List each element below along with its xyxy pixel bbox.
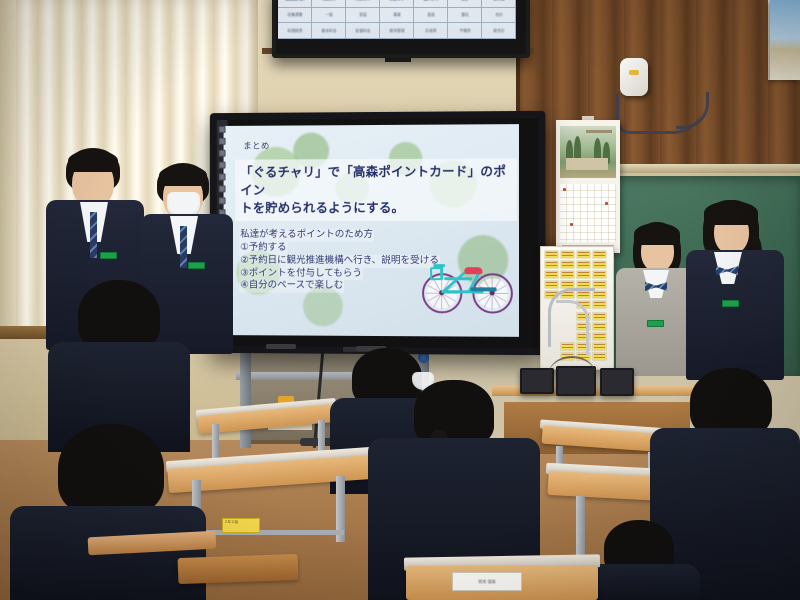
- calendar-photo: [560, 126, 616, 178]
- table-row: 設備費内訳 可燃ごみ 陶土ごみ 資源ごみ 粗大ごみ 合計 前年比: [278, 0, 516, 8]
- slide-headline-line-2: トを貯められるようにする。: [240, 198, 512, 216]
- laptop-3[interactable]: [600, 368, 634, 396]
- slide-bullet-3: ③ポイントを付与してもらう: [239, 267, 363, 280]
- name-badge: [100, 252, 117, 259]
- curtain-edge: [0, 0, 16, 345]
- desk-crossbar: [198, 530, 344, 535]
- desk-top-left-front: [178, 554, 299, 584]
- table-cell: 従量料金: [346, 23, 380, 38]
- chalk-tray: [596, 164, 800, 173]
- name-badge: [722, 300, 739, 307]
- table-cell: 予備費: [448, 23, 482, 38]
- desk-namecard: 教育 優美: [452, 572, 522, 591]
- table-cell: 一般: [312, 8, 346, 23]
- table-cell: 直接: [414, 8, 448, 23]
- table-cell: 前年比: [482, 0, 516, 7]
- calendar-photo-building: [566, 158, 608, 170]
- table-cell: 委託: [448, 8, 482, 23]
- table-cell: 粗大ごみ: [414, 0, 448, 7]
- table-cell: 処理経費: [278, 23, 312, 38]
- slide-headline-line-1: 「ぐるチャリ」で「高森ポイントカード」のポイン: [240, 162, 512, 198]
- desk-yellow-label: ３年２組: [222, 518, 260, 533]
- desk-leg: [576, 496, 585, 556]
- table-row: 収集運搬 一般 家庭 事業 直接 委託 合計: [278, 8, 516, 24]
- table-row: 処理経費 基本料金 従量料金 維持管理 計画費 予備費 総合計: [278, 23, 516, 39]
- slide-bullet-1: ①予約する: [239, 242, 287, 255]
- stand-leg-left: [240, 344, 251, 448]
- table-cell: 設備費内訳: [278, 0, 312, 7]
- interactive-whiteboard[interactable]: まとめ 「ぐるチャリ」で「高森ポイントカード」のポイン トを貯められるようにする…: [210, 111, 546, 355]
- wall-poster: [770, 0, 800, 80]
- table-cell: 計画費: [414, 23, 448, 38]
- table-cell: 可燃ごみ: [312, 0, 346, 7]
- classroom-photo: 設備費内訳 可燃ごみ 陶土ごみ 資源ごみ 粗大ごみ 合計 前年比 収集運搬 一般…: [0, 0, 800, 600]
- ceiling-monitor-screen: 設備費内訳 可燃ごみ 陶土ごみ 資源ごみ 粗大ごみ 合計 前年比 収集運搬 一般…: [278, 0, 516, 39]
- access-point-led: [629, 70, 639, 75]
- slide-bullet-4: ④自分のペースで楽しむ: [239, 280, 344, 293]
- slide-bullet-2: ②予約日に観光推進機構へ行き、説明を受ける: [239, 255, 440, 268]
- slide-body-heading: 私達が考えるポイントのため方: [239, 229, 374, 242]
- whiteboard-arm-2: [556, 300, 589, 355]
- iwb-pedal-left: [266, 344, 296, 349]
- calendar-date-grid: [560, 184, 616, 242]
- table-cell: 家庭: [346, 8, 380, 23]
- whiteboard-screen[interactable]: まとめ 「ぐるチャリ」で「高森ポイントカード」のポイン トを貯められるようにする…: [224, 124, 519, 337]
- name-badge: [188, 262, 205, 269]
- table-cell: 基本料金: [312, 23, 346, 38]
- name-badge: [647, 320, 664, 327]
- table-cell: 維持管理: [380, 23, 414, 38]
- table-cell: 合計: [448, 0, 482, 7]
- table-cell: 陶土ごみ: [346, 0, 380, 7]
- bicycle-saddle: [464, 267, 482, 274]
- table-cell: 合計: [482, 8, 516, 23]
- slide-headline: 「ぐるチャリ」で「高森ポイントカード」のポイン トを貯められるようにする。: [235, 158, 517, 221]
- slide-kicker: まとめ: [243, 140, 270, 152]
- table-cell: 事業: [380, 8, 414, 23]
- table-cell: 総合計: [482, 23, 516, 38]
- monitor-table: 設備費内訳 可燃ごみ 陶土ごみ 資源ごみ 粗大ごみ 合計 前年比 収集運搬 一般…: [278, 0, 516, 39]
- table-cell: 収集運搬: [278, 8, 312, 23]
- table-cell: 資源ごみ: [380, 0, 414, 7]
- calendar-title-bar: [586, 130, 612, 133]
- wireless-access-point-icon: [620, 58, 648, 96]
- bicycle-icon: [420, 253, 513, 316]
